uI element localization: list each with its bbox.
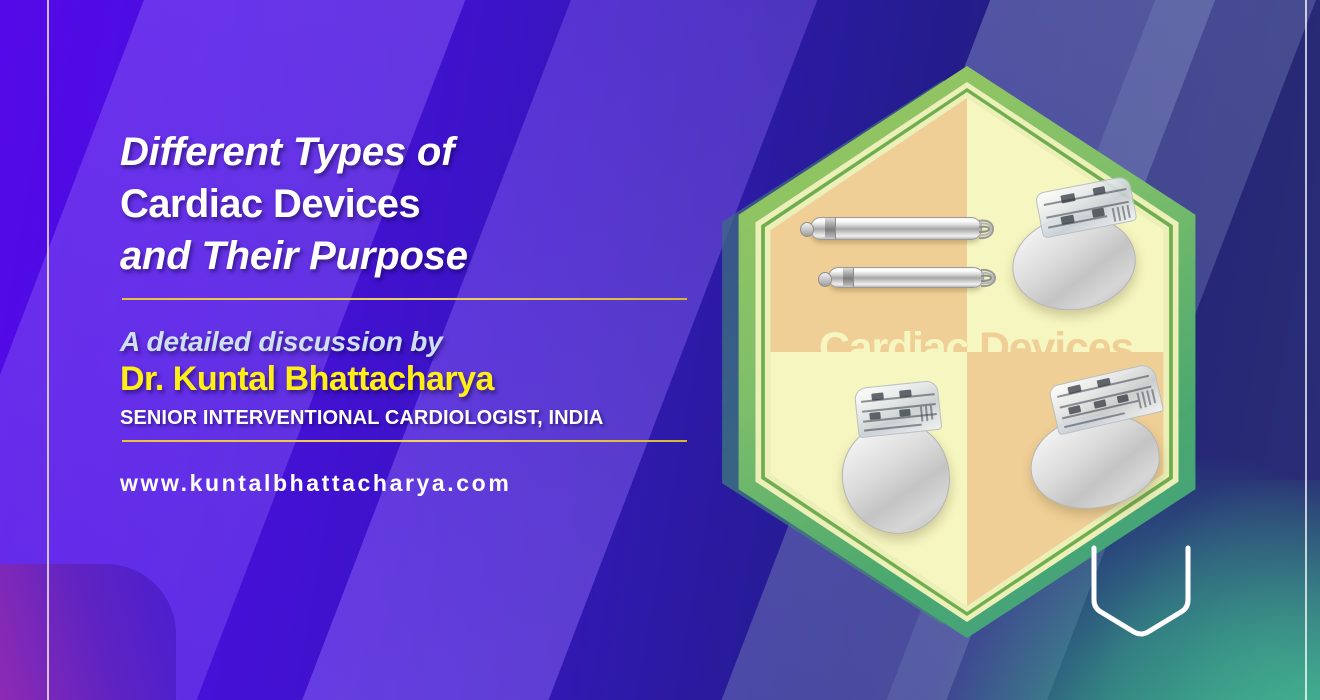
crt-header-block bbox=[1048, 362, 1164, 435]
capsule-retrieval-loop-lower bbox=[818, 272, 832, 287]
website-url[interactable]: www.kuntalbhattacharya.com bbox=[120, 470, 720, 497]
headline-line-3: and Their Purpose bbox=[120, 230, 720, 282]
capsule-tines-upper bbox=[978, 217, 996, 242]
sub-lead-text: A detailed discussion by bbox=[120, 326, 720, 358]
text-column: Different Types of Cardiac Devices and T… bbox=[120, 126, 720, 497]
right-edge-rule bbox=[1305, 0, 1307, 700]
capsule-collar-lower bbox=[843, 268, 854, 287]
doctor-name: Dr. Kuntal Bhattacharya bbox=[120, 360, 720, 399]
capsule-tines-lower bbox=[980, 267, 998, 292]
headline-line-1: Different Types of bbox=[120, 126, 720, 178]
implantable-pacemaker-oval bbox=[1008, 172, 1158, 322]
implantable-cardioverter-defibrillator bbox=[830, 370, 980, 540]
magenta-blob-bottom-left bbox=[0, 564, 176, 700]
capsule-collar-upper bbox=[825, 218, 836, 239]
pacemaker-header-block-oval bbox=[1034, 175, 1137, 238]
leadless-capsule-pacemaker-upper bbox=[798, 216, 988, 242]
icd-header-block bbox=[854, 380, 943, 439]
cardiac-devices-hexagon-graphic: Cardiac Devices Cardiac Devices bbox=[712, 52, 1222, 652]
leadless-capsule-pacemaker-lower bbox=[816, 266, 992, 292]
hexagon-outline-accent bbox=[1086, 542, 1196, 646]
capsule-retrieval-loop-upper bbox=[800, 222, 814, 237]
gold-divider-top bbox=[122, 298, 687, 300]
doctor-credential: SENIOR INTERVENTIONAL CARDIOLOGIST, INDI… bbox=[120, 407, 720, 430]
headline-line-2: Cardiac Devices bbox=[120, 178, 720, 230]
promotional-banner: Different Types of Cardiac Devices and T… bbox=[0, 0, 1320, 700]
gold-divider-bottom bbox=[122, 440, 687, 442]
cardiac-resynchronization-device bbox=[1030, 368, 1190, 528]
icd-can-round bbox=[838, 418, 954, 537]
left-edge-rule bbox=[47, 0, 49, 700]
